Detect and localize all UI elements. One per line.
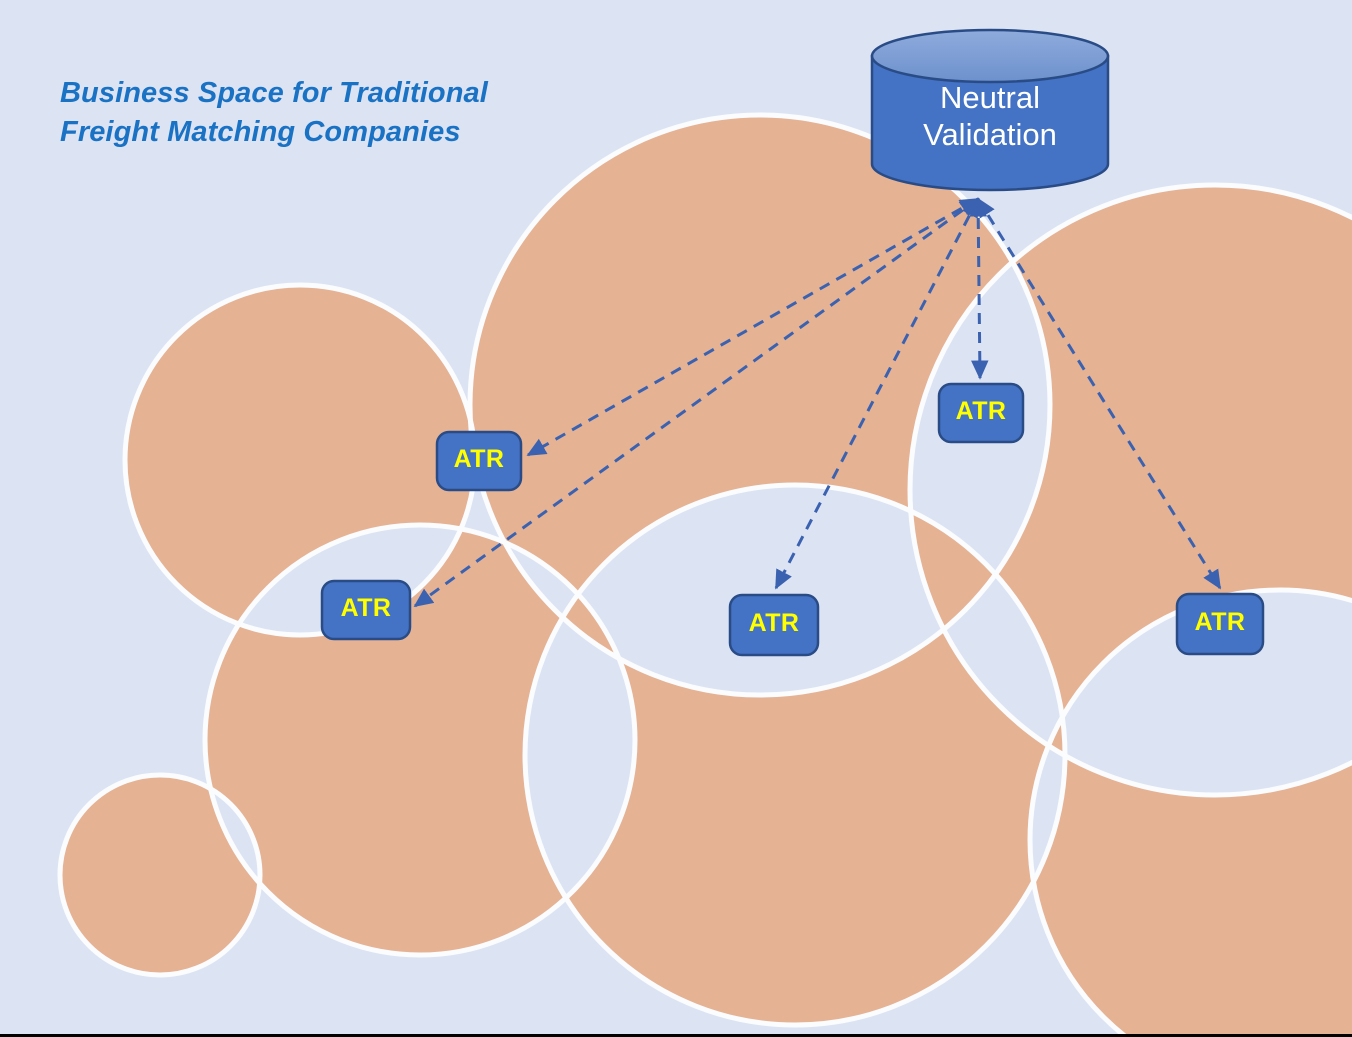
atr-node-4[interactable] <box>1177 594 1263 654</box>
diagram-artwork <box>0 0 1352 1037</box>
neutral-validation-datastore-shape[interactable] <box>872 30 1108 190</box>
business-space-circles <box>60 115 1352 1037</box>
atr-node-2[interactable] <box>730 595 818 655</box>
business-space-fill <box>60 115 1352 1037</box>
diagram-canvas: Business Space for Traditional Freight M… <box>0 0 1352 1037</box>
atr-node-1[interactable] <box>322 581 410 639</box>
atr-node-0[interactable] <box>437 432 521 490</box>
datastore-top-ellipse[interactable] <box>872 30 1108 82</box>
atr-node-3[interactable] <box>939 384 1023 442</box>
page-title: Business Space for Traditional Freight M… <box>60 74 580 151</box>
